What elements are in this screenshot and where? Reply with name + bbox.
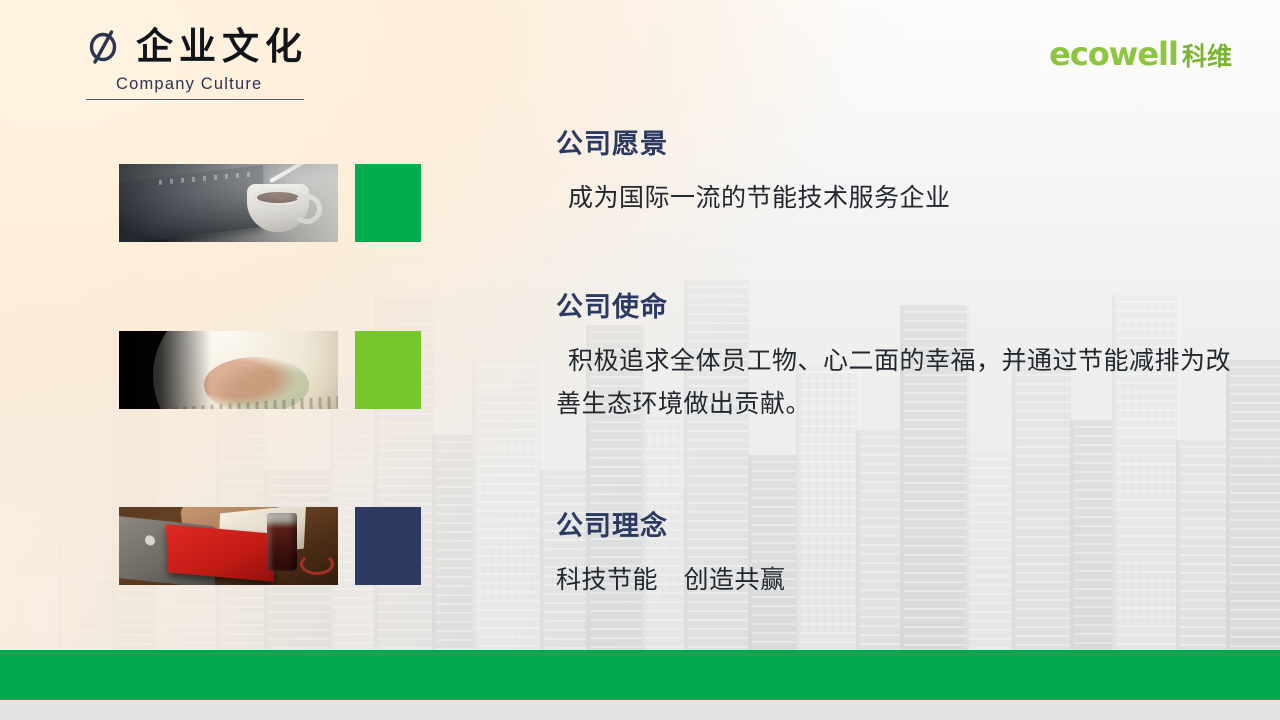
desk-workspace-photo: [119, 507, 338, 585]
media-row: [119, 164, 421, 242]
header: 企业文化 Company Culture: [86, 26, 308, 100]
navy-swatch: [355, 507, 421, 585]
block-title: 公司使命: [556, 293, 1246, 323]
logo-chinese-name: 科维: [1182, 44, 1232, 69]
slide-root: 企业文化 Company Culture ecowell 科维: [0, 0, 1280, 720]
title-underline: [86, 99, 304, 100]
block-body: 积极追求全体员工物、心二面的幸福，并通过节能减排为改善生态环境做出贡献。: [556, 339, 1246, 425]
media-row: [119, 507, 421, 585]
block-body: 科技节能 创造共赢: [556, 558, 1246, 601]
content-block-vision: 公司愿景 成为国际一流的节能技术服务企业: [556, 130, 1246, 219]
content-block-philosophy: 公司理念 科技节能 创造共赢: [556, 512, 1246, 601]
page-title: 企业文化: [136, 28, 308, 65]
footer-base: [0, 700, 1280, 720]
block-title: 公司理念: [556, 512, 1246, 542]
slashed-circle-icon: [86, 26, 120, 66]
ecowell-logo: ecowell 科维: [1043, 36, 1238, 72]
footer-accent-bar: [0, 650, 1280, 700]
notebook-and-coffee-photo: [119, 164, 338, 242]
globe-photo: [119, 331, 338, 409]
green-swatch: [355, 164, 421, 242]
page-subtitle: Company Culture: [116, 75, 308, 94]
media-row: [119, 331, 421, 409]
content-block-mission: 公司使命 积极追求全体员工物、心二面的幸福，并通过节能减排为改善生态环境做出贡献…: [556, 293, 1246, 425]
logo-wordmark: ecowell: [1049, 38, 1178, 70]
block-title: 公司愿景: [556, 130, 1246, 160]
block-body: 成为国际一流的节能技术服务企业: [556, 176, 1246, 219]
light-green-swatch: [355, 331, 421, 409]
